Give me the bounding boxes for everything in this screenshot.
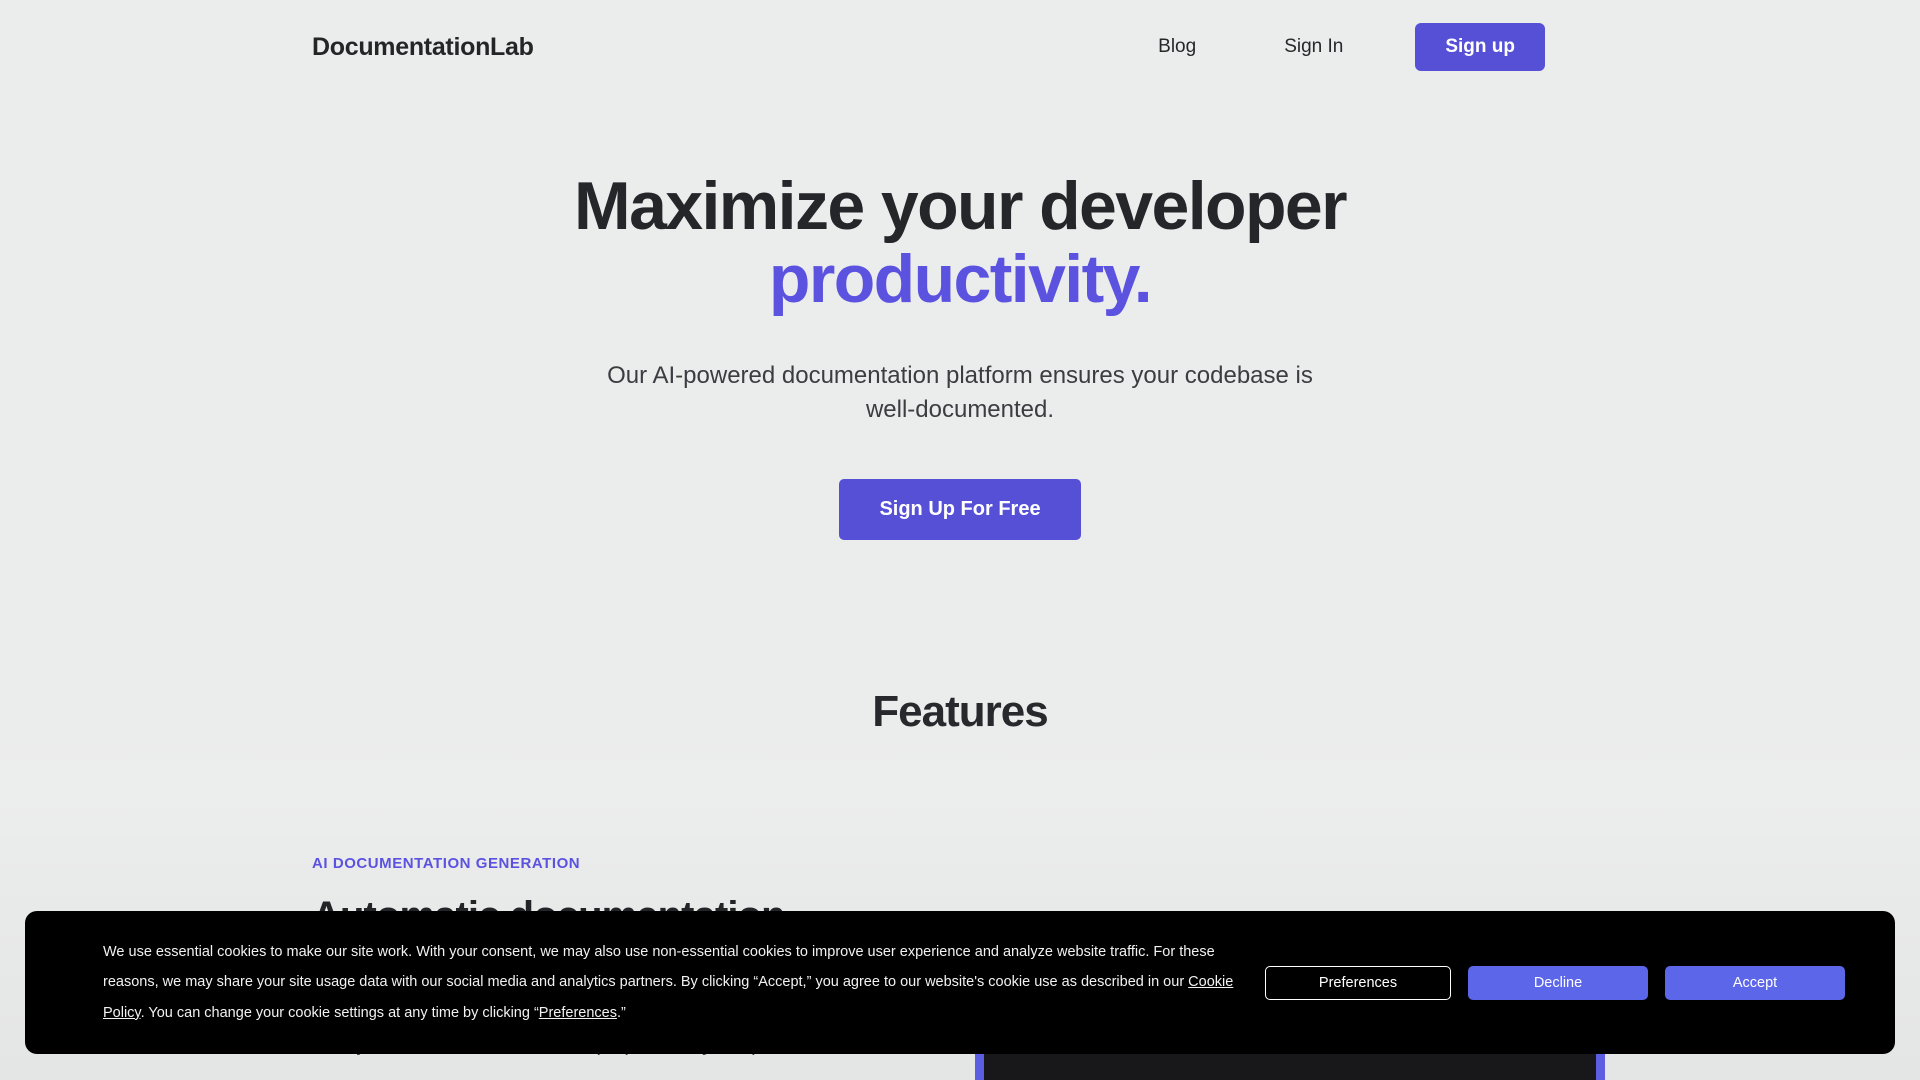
page-root: DocumentationLab Blog Sign In Sign up Ma… (0, 0, 1920, 1080)
hero-section: Maximize your developer productivity. Ou… (0, 170, 1920, 540)
cookie-consent-banner: We use essential cookies to make our sit… (25, 911, 1895, 1054)
brand-logo[interactable]: DocumentationLab (312, 33, 534, 62)
features-heading: Features (0, 687, 1920, 737)
nav-link-blog[interactable]: Blog (1148, 30, 1206, 64)
preferences-button[interactable]: Preferences (1265, 966, 1451, 1000)
hero-title-line-2: productivity. (769, 241, 1151, 317)
cookie-text-part-3: .” (617, 1005, 626, 1021)
preferences-link[interactable]: Preferences (539, 1005, 617, 1021)
accept-button[interactable]: Accept (1665, 966, 1845, 1000)
cookie-banner-text: We use essential cookies to make our sit… (103, 937, 1243, 1027)
hero-title: Maximize your developer productivity. (460, 170, 1460, 317)
nav-link-signin[interactable]: Sign In (1274, 30, 1353, 64)
feature-eyebrow-label: AI DOCUMENTATION GENERATION (312, 855, 952, 872)
cookie-banner-actions: Preferences Decline Accept (1265, 966, 1861, 1000)
signup-button[interactable]: Sign up (1415, 23, 1545, 71)
site-header: DocumentationLab Blog Sign In Sign up (0, 0, 1920, 94)
main-navigation: Blog Sign In Sign up (1148, 23, 1840, 71)
hero-cta-button[interactable]: Sign Up For Free (839, 479, 1080, 540)
cookie-text-part-1: We use essential cookies to make our sit… (103, 944, 1215, 990)
hero-title-line-1: Maximize your developer (574, 168, 1346, 244)
decline-button[interactable]: Decline (1468, 966, 1648, 1000)
cookie-text-part-2: . You can change your cookie settings at… (141, 1005, 539, 1021)
hero-subtitle: Our AI-powered documentation platform en… (590, 359, 1330, 427)
